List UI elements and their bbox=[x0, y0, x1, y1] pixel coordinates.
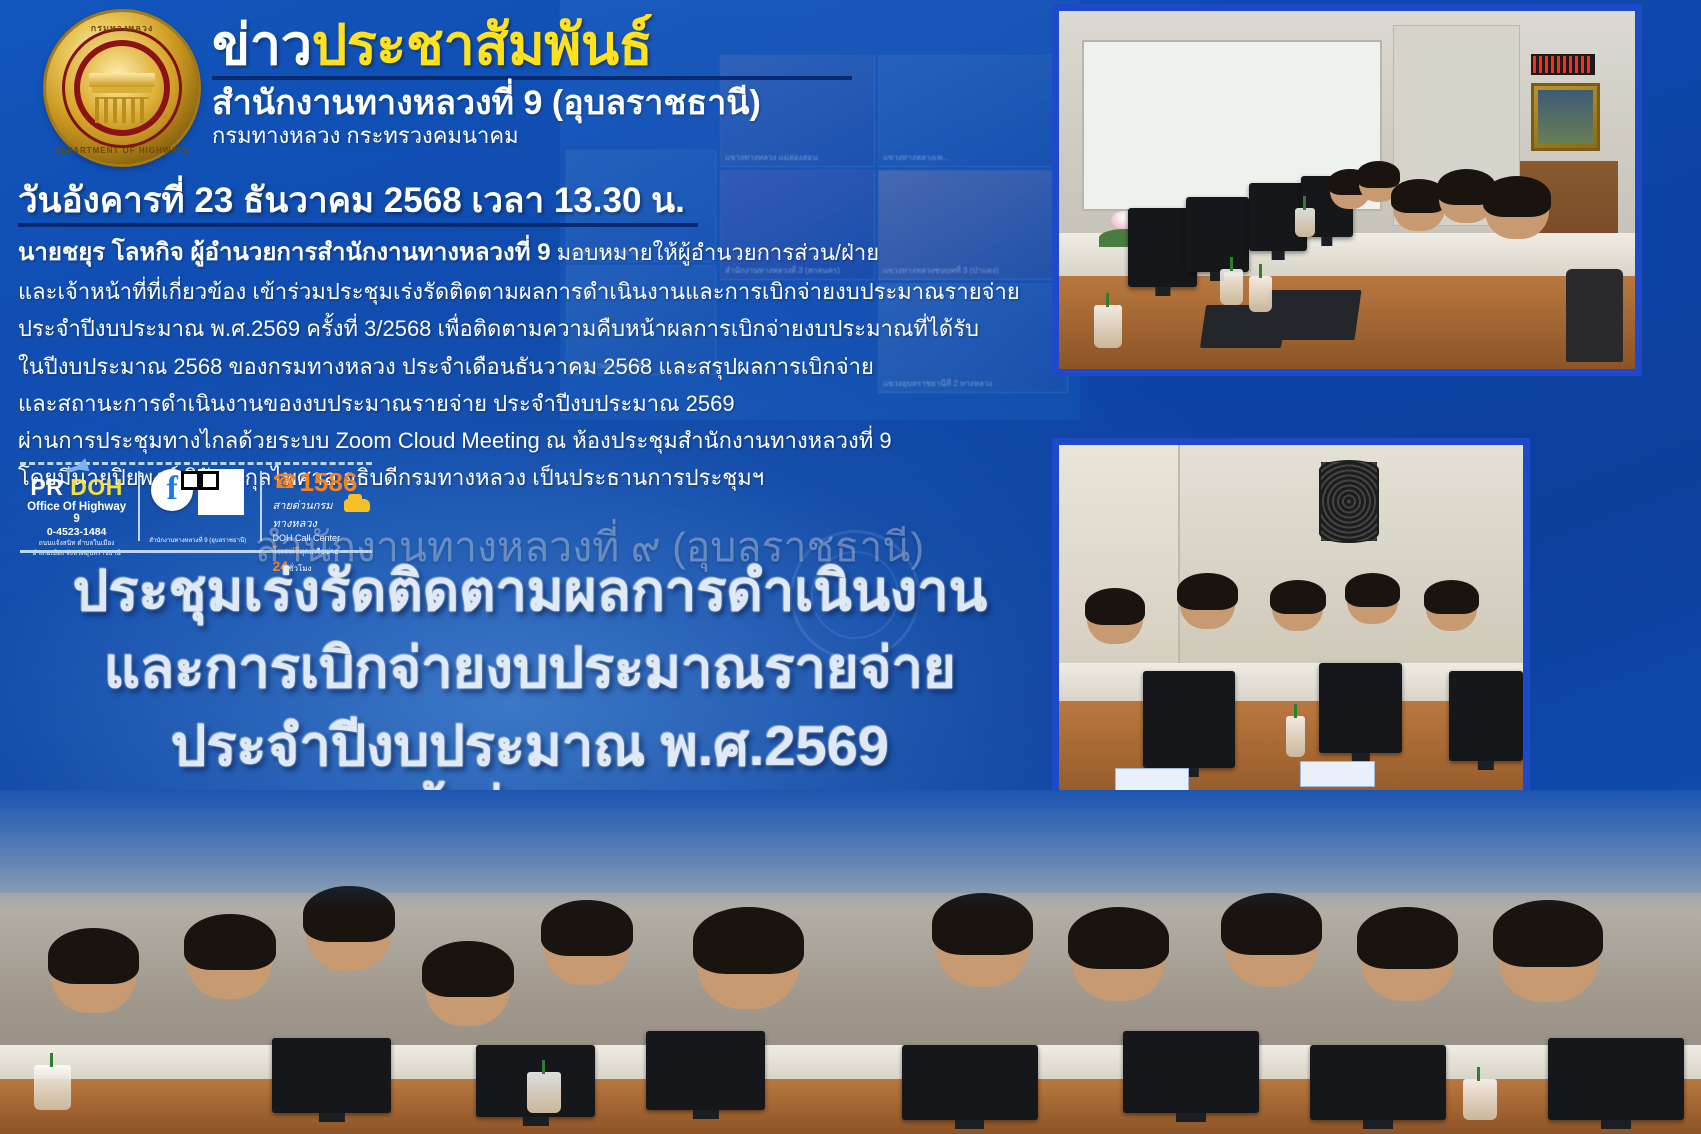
address-line-1: ถนนแจ้งสนิท ตำบลในเมือง bbox=[26, 540, 127, 548]
pr-label: PR bbox=[30, 474, 63, 500]
phone-ring-icon: ☎ bbox=[273, 472, 298, 492]
dateline-rule bbox=[18, 223, 698, 227]
facebook-qr-block[interactable]: สำนักงานทางหลวงที่ 9 (อุบลราชธานี) bbox=[145, 469, 254, 543]
photo-top-scene bbox=[1059, 11, 1635, 369]
brand-title-row: ข่าวประชาสัมพันธ์ bbox=[212, 16, 932, 74]
dateline-text: วันอังคารที่ 23 ธันวาคม 2568 เวลา 13.30 … bbox=[18, 182, 1038, 220]
photo-bottom-scene bbox=[1059, 445, 1523, 821]
headline-line-3: ประจำปีงบประมาณ พ.ศ.2569 bbox=[0, 707, 1060, 784]
meeting-photo-strip bbox=[0, 790, 1701, 1134]
poster-canvas: สทล.9 อุบลราชธานี แขวงทางหลวง แม่ฮ่องสอน… bbox=[0, 0, 1701, 1134]
body-line: ในปีงบประมาณ 2568 ของกรมทางหลวง ประจำเดื… bbox=[18, 351, 1048, 382]
headline-line-2: และการเบิกจ่ายงบประมาณรายจ่าย bbox=[0, 629, 1060, 706]
hotline-number: 1586 bbox=[299, 469, 357, 495]
contact-bar-dashed-divider bbox=[20, 462, 372, 465]
seal-pillars-icon bbox=[95, 97, 149, 123]
body-line: ประจำปีงบประมาณ พ.ศ.2569 ครั้งที่ 3/2568… bbox=[18, 313, 1048, 344]
brand-rule bbox=[212, 76, 852, 80]
body-line: และสถานะการดำเนินงานของงบประมาณรายจ่าย ป… bbox=[18, 388, 1048, 419]
taxi-icon bbox=[344, 499, 370, 512]
body-line-lead: นายชยุร โลหกิจ ผู้อำนวยการสำนักงานทางหลว… bbox=[18, 236, 1048, 270]
meeting-photo-top bbox=[1052, 4, 1642, 376]
seal-pavilion-icon bbox=[89, 73, 155, 87]
doh-label: DOH bbox=[70, 474, 123, 500]
seal-top-text: กรมทางหลวง bbox=[46, 21, 198, 35]
brand-title-word1: ข่าว bbox=[212, 13, 312, 76]
header: กรมทางหลวง DEPARTMENT OF HIGHWAYS ข่าวปร… bbox=[0, 0, 1060, 172]
pr-doh-title: PR DOH bbox=[26, 476, 127, 499]
office-of-highway-label: Office Of Highway 9 bbox=[26, 501, 127, 525]
qr-code-icon[interactable] bbox=[198, 469, 244, 515]
brand-block: ข่าวประชาสัมพันธ์ สำนักงานทางหลวงที่ 9 (… bbox=[212, 16, 932, 150]
seal-bottom-text: DEPARTMENT OF HIGHWAYS bbox=[46, 146, 198, 155]
body-line: ผ่านการประชุมทางไกลด้วยระบบ Zoom Cloud M… bbox=[18, 425, 1048, 456]
body-lead-bold: นายชยุร โลหกิจ ผู้อำนวยการสำนักงานทางหลว… bbox=[18, 239, 551, 266]
photo-strip-top-fade bbox=[0, 790, 1701, 910]
telephone-number: 0-4523-1484 bbox=[26, 526, 127, 538]
meeting-photo-bottom bbox=[1052, 438, 1530, 828]
brand-title-word2: ประชาสัมพันธ์ bbox=[312, 13, 653, 76]
body-line: และเจ้าหน้าที่ที่เกี่ยวข้อง เข้าร่วมประช… bbox=[18, 276, 1048, 307]
brand-department-line: กรมทางหลวง กระทรวงคมนาคม bbox=[212, 123, 932, 149]
headline-line-1: ประชุมเร่งรัดติดตามผลการดำเนินงาน bbox=[0, 552, 1060, 629]
contact-divider bbox=[138, 471, 140, 541]
pr-doh-block: PR DOH Office Of Highway 9 0-4523-1484 ถ… bbox=[20, 469, 133, 543]
body-copy: นายชยุร โลหกิจ ผู้อำนวยการสำนักงานทางหลว… bbox=[18, 236, 1048, 499]
hotline-number-row: ☎1586 bbox=[273, 469, 366, 495]
doh-seal-logo: กรมทางหลวง DEPARTMENT OF HIGHWAYS bbox=[46, 12, 198, 164]
dateline-block: วันอังคารที่ 23 ธันวาคม 2568 เวลา 13.30 … bbox=[18, 182, 1038, 227]
body-lead-rest: มอบหมายให้ผู้อำนวยการส่วน/ฝ่าย bbox=[551, 240, 880, 265]
facebook-caption: สำนักงานทางหลวงที่ 9 (อุบลราชธานี) bbox=[149, 535, 246, 545]
brand-office-line: สำนักงานทางหลวงที่ 9 (อุบลราชธานี) bbox=[212, 84, 932, 122]
